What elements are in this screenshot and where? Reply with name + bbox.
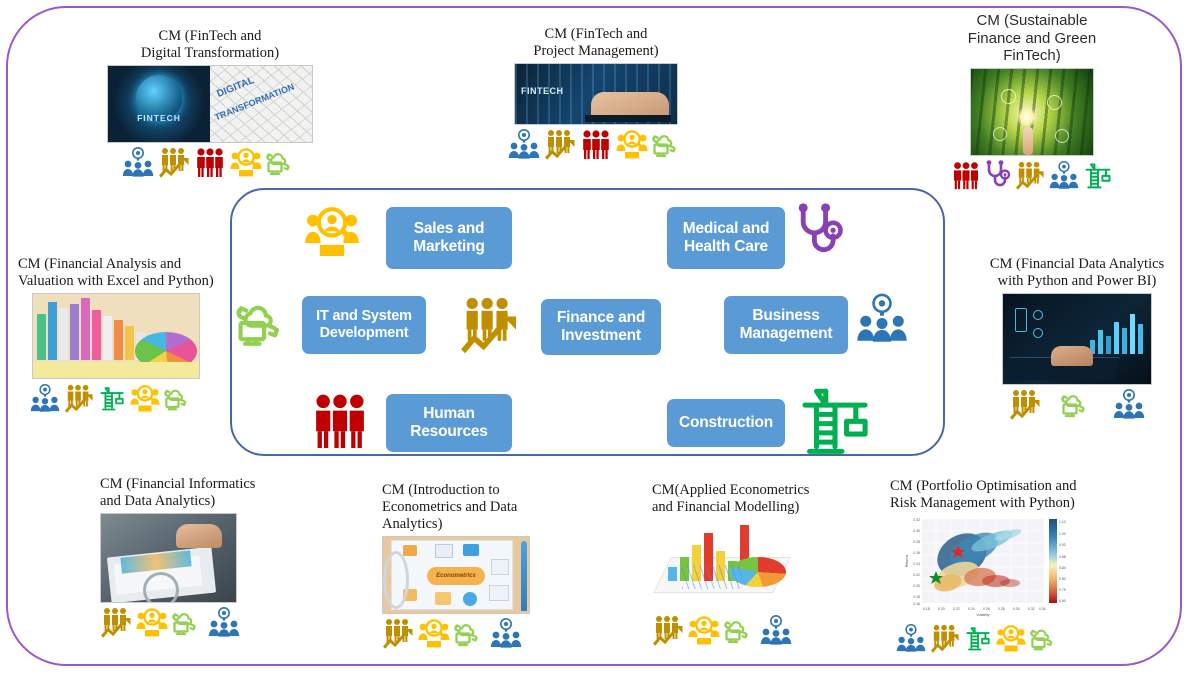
module-card-fintech-and-digital-transformation: CM (FinTech and Digital Transformation) …	[100, 28, 320, 177]
sales-magnifier-people-icon	[996, 623, 1026, 653]
svg-text:0.32: 0.32	[913, 518, 920, 522]
stethoscope-icon	[795, 203, 845, 259]
monitor-cloud-icon	[1030, 623, 1060, 653]
people-growth-arrow-icon	[100, 607, 132, 637]
module-title: CM (Portfolio Optimisation and Risk Mana…	[890, 478, 1102, 512]
sales-magnifier-people-icon	[688, 615, 720, 645]
svg-text:0.88: 0.88	[1059, 555, 1066, 559]
module-icon-row	[944, 160, 1120, 190]
module-card-introduction-to-econometrics: CM (Introduction to Econometrics and Dat…	[382, 482, 562, 648]
svg-text:0.24: 0.24	[968, 607, 975, 611]
econometrics-infographic-photo: Econometrics	[382, 536, 530, 614]
svg-text:0.24: 0.24	[913, 562, 920, 566]
efficient-frontier-scatter-plot: 0.320.30 0.280.26 0.240.22 0.200.18 0.16…	[896, 515, 1082, 619]
module-card-fintech-and-project-management: CM (FinTech and Project Management) FINT…	[498, 26, 694, 159]
module-icon-row	[382, 618, 562, 648]
module-icon-row	[100, 147, 320, 177]
crane-icon	[792, 382, 878, 456]
sales-magnifier-people-icon	[303, 205, 361, 257]
people-lightbulb-icon	[1049, 160, 1079, 190]
three-people-icon	[194, 147, 226, 177]
image-label-fintech: FINTECH	[108, 113, 210, 123]
module-title: CM (Financial Data Analytics with Python…	[968, 256, 1186, 290]
module-title: CM (Sustainable Finance and Green FinTec…	[944, 12, 1120, 65]
green-forest-lightbulb-photo	[970, 68, 1094, 156]
module-card-applied-econometrics-and-financial-modelling: CM(Applied Econometrics and Financial Mo…	[652, 482, 842, 645]
category-business-management[interactable]: Business Management	[724, 296, 848, 354]
crane-icon	[964, 623, 992, 653]
monitor-cloud-icon	[652, 129, 684, 159]
three-people-icon	[951, 160, 981, 190]
svg-text:0.60: 0.60	[1059, 599, 1066, 603]
svg-text:0.28: 0.28	[913, 540, 920, 544]
people-growth-arrow-icon	[652, 615, 684, 645]
category-it-and-system-development[interactable]: IT and System Development	[302, 296, 426, 354]
three-people-icon	[580, 129, 612, 159]
colorful-bar-pie-chart-photo	[32, 293, 200, 379]
svg-text:0.26: 0.26	[913, 551, 920, 555]
module-title: CM (Financial Informatics and Data Analy…	[100, 476, 300, 510]
module-title: CM (Introduction to Econometrics and Dat…	[382, 482, 562, 533]
people-growth-arrow-icon	[930, 623, 960, 653]
module-icon-row	[652, 615, 842, 645]
svg-text:0.22: 0.22	[913, 573, 920, 577]
svg-text:0.16: 0.16	[913, 602, 920, 606]
people-lightbulb-icon	[208, 607, 240, 637]
people-growth-arrow-icon	[1009, 389, 1041, 419]
module-card-financial-analysis-and-valuation: CM (Financial Analysis and Valuation wit…	[18, 256, 218, 413]
svg-text:0.30: 0.30	[1013, 607, 1020, 611]
category-finance-and-investment[interactable]: Finance and Investment	[541, 299, 661, 355]
three-people-icon	[309, 392, 371, 448]
svg-text:0.18: 0.18	[913, 595, 920, 599]
svg-text:0.18: 0.18	[923, 607, 930, 611]
module-title: CM (FinTech and Project Management)	[498, 26, 694, 60]
people-lightbulb-icon	[508, 129, 540, 159]
laptop-data-dashboard-photo	[1002, 293, 1152, 385]
monitor-cloud-icon	[454, 618, 486, 648]
svg-text:1.00: 1.00	[1059, 532, 1066, 536]
crane-icon	[1083, 160, 1113, 190]
people-lightbulb-icon	[760, 615, 792, 645]
monitor-cloud-icon	[172, 607, 204, 637]
module-icon-row	[30, 383, 218, 413]
sales-magnifier-people-icon	[616, 129, 648, 159]
people-growth-arrow-icon	[1015, 160, 1045, 190]
svg-text:0.34: 0.34	[1039, 607, 1046, 611]
svg-text:0.80: 0.80	[1059, 577, 1066, 581]
stethoscope-clipboard-data-photo	[100, 513, 237, 603]
svg-text:0.20: 0.20	[913, 584, 920, 588]
category-medical-and-health-care[interactable]: Medical and Health Care	[667, 207, 785, 269]
sales-magnifier-people-icon	[136, 607, 168, 637]
people-lightbulb-icon	[1113, 389, 1145, 419]
module-card-financial-informatics-and-data-analytics: CM (Financial Informatics and Data Analy…	[100, 476, 300, 637]
module-card-sustainable-finance-and-green-fintech: CM (Sustainable Finance and Green FinTec…	[944, 12, 1120, 190]
people-growth-arrow-icon	[544, 129, 576, 159]
svg-text:0.84: 0.84	[1059, 566, 1066, 570]
category-human-resources[interactable]: Human Resources	[386, 394, 512, 452]
module-icon-row	[100, 607, 300, 637]
monitor-cloud-icon	[164, 383, 194, 413]
scatter-chart-svg: 0.320.30 0.280.26 0.240.22 0.200.18 0.16…	[896, 515, 1082, 619]
svg-text:0.30: 0.30	[913, 529, 920, 533]
monitor-cloud-icon	[266, 147, 298, 177]
sales-magnifier-people-icon	[130, 383, 160, 413]
monitor-cloud-icon	[724, 615, 756, 645]
image-label-econometrics: Econometrics	[427, 567, 485, 585]
svg-text:0.75: 0.75	[1059, 588, 1066, 592]
diagram-canvas: CM (FinTech and Digital Transformation) …	[0, 0, 1200, 675]
image-label-fintech: FINTECH	[521, 86, 564, 96]
scatter-ylabel: Returns	[905, 555, 909, 568]
svg-text:0.92: 0.92	[1059, 543, 1066, 547]
module-card-financial-data-analytics: CM (Financial Data Analytics with Python…	[968, 256, 1186, 419]
scatter-xlabel: Volatility	[976, 613, 989, 617]
svg-text:0.32: 0.32	[1028, 607, 1035, 611]
svg-text:0.22: 0.22	[953, 607, 960, 611]
svg-text:0.28: 0.28	[998, 607, 1005, 611]
module-title: CM (Financial Analysis and Valuation wit…	[18, 256, 218, 290]
module-card-portfolio-optimisation-and-risk-management: CM (Portfolio Optimisation and Risk Mana…	[890, 478, 1102, 653]
category-sales-and-marketing[interactable]: Sales and Marketing	[386, 207, 512, 269]
3d-bar-pie-chart-photo	[652, 519, 792, 611]
sales-magnifier-people-icon	[418, 618, 450, 648]
people-lightbulb-icon	[122, 147, 154, 177]
stethoscope-icon	[985, 160, 1011, 190]
fintech-laptop-hands-photo: FINTECH	[514, 63, 678, 125]
people-lightbulb-icon	[856, 290, 908, 346]
monitor-cloud-icon	[236, 293, 294, 351]
svg-text:0.20: 0.20	[938, 607, 945, 611]
module-icon-row	[498, 129, 694, 159]
people-growth-arrow-icon	[64, 383, 94, 413]
fintech-digital-transformation-photo: FINTECH DIGITAL TRANSFORMATION	[107, 65, 313, 143]
module-title: CM(Applied Econometrics and Financial Mo…	[652, 482, 842, 516]
sales-magnifier-people-icon	[230, 147, 262, 177]
people-growth-arrow-icon	[459, 296, 519, 352]
people-growth-arrow-icon	[158, 147, 190, 177]
module-title: CM (FinTech and Digital Transformation)	[100, 28, 320, 62]
svg-text:1.10: 1.10	[1059, 520, 1066, 524]
svg-text:0.26: 0.26	[983, 607, 990, 611]
people-growth-arrow-icon	[382, 618, 414, 648]
people-lightbulb-icon	[490, 618, 522, 648]
people-lightbulb-icon	[30, 383, 60, 413]
people-lightbulb-icon	[896, 623, 926, 653]
module-icon-row	[968, 389, 1186, 419]
category-construction[interactable]: Construction	[667, 399, 785, 447]
monitor-cloud-icon	[1061, 389, 1093, 419]
crane-icon	[98, 383, 126, 413]
module-icon-row	[896, 623, 1102, 653]
